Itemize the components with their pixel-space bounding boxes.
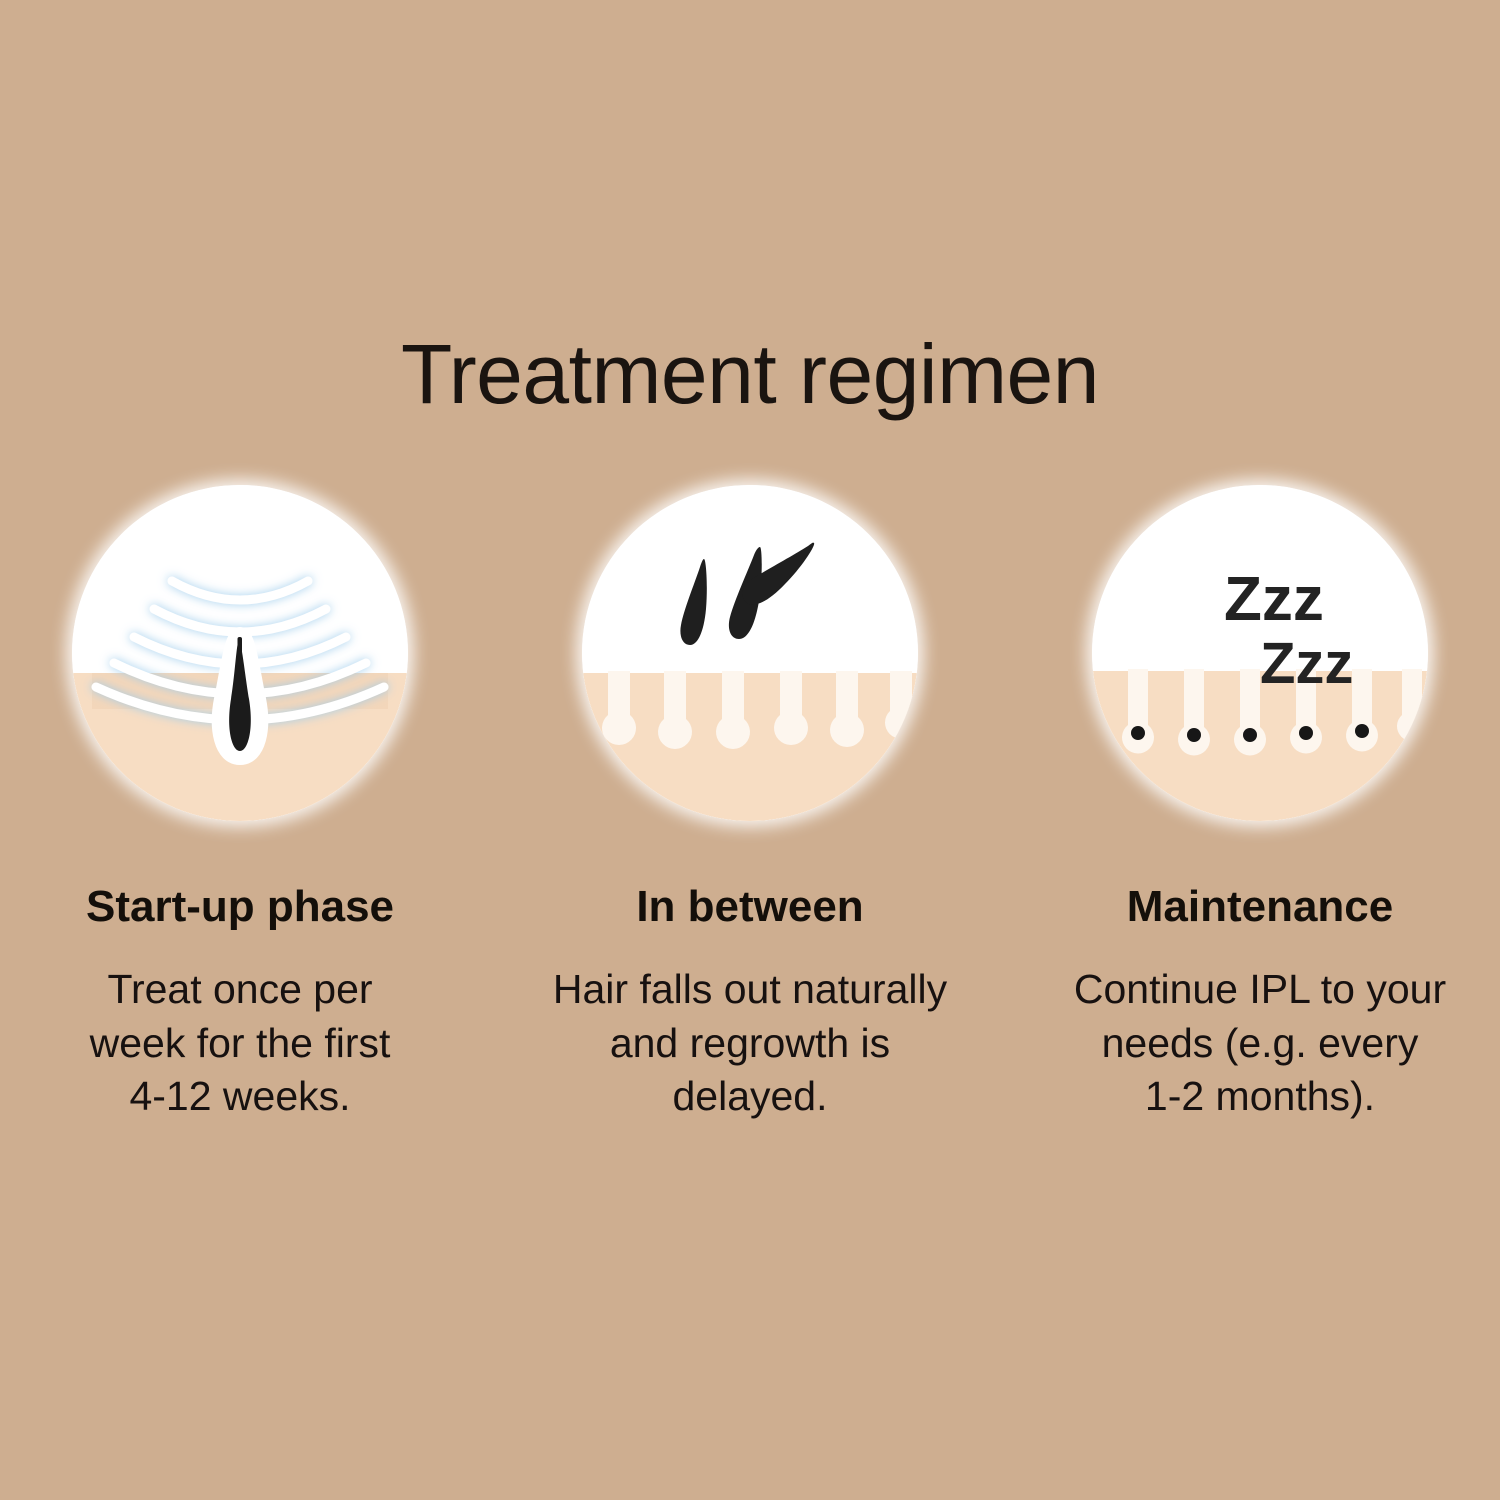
phase-body-line: week for the first bbox=[90, 1017, 391, 1070]
phase-body-line: delayed. bbox=[553, 1070, 947, 1123]
phase-body-line: Hair falls out naturally bbox=[553, 963, 947, 1016]
zzz-top-label: Zzz bbox=[1224, 565, 1324, 634]
zzz-bottom-label: Zzz bbox=[1260, 631, 1353, 696]
phase-body-start-up: Treat once per week for the first 4-12 w… bbox=[90, 963, 391, 1123]
ipl-light-waves-into-skin-icon bbox=[72, 485, 408, 821]
phase-body-line: Continue IPL to your bbox=[1074, 963, 1446, 1016]
phase-columns: Start-up phase Treat once per week for t… bbox=[0, 485, 1500, 1123]
phase-column-in-between: In between Hair falls out naturally and … bbox=[515, 485, 985, 1123]
phase-body-line: 1-2 months). bbox=[1074, 1070, 1446, 1123]
page-title: Treatment regimen bbox=[0, 330, 1500, 418]
phase-body-line: needs (e.g. every bbox=[1074, 1017, 1446, 1070]
phase-heading-in-between: In between bbox=[636, 883, 863, 931]
phase-column-start-up: Start-up phase Treat once per week for t… bbox=[5, 485, 475, 1123]
phase-body-line: 4-12 weeks. bbox=[90, 1070, 391, 1123]
phase-column-maintenance: Zzz Zzz Maintenance Continue IPL to your… bbox=[1025, 485, 1495, 1123]
phase-body-in-between: Hair falls out naturally and regrowth is… bbox=[553, 963, 947, 1123]
phase-body-maintenance: Continue IPL to your needs (e.g. every 1… bbox=[1074, 963, 1446, 1123]
phase-heading-maintenance: Maintenance bbox=[1127, 883, 1394, 931]
phase-body-line: and regrowth is bbox=[553, 1017, 947, 1070]
treatment-regimen-infographic: Treatment regimen bbox=[0, 0, 1500, 1500]
hairs-falling-out-icon bbox=[582, 485, 918, 821]
phase-heading-start-up: Start-up phase bbox=[86, 883, 394, 931]
dormant-follicles-zzz-icon: Zzz Zzz bbox=[1092, 485, 1428, 821]
phase-body-line: Treat once per bbox=[90, 963, 391, 1016]
